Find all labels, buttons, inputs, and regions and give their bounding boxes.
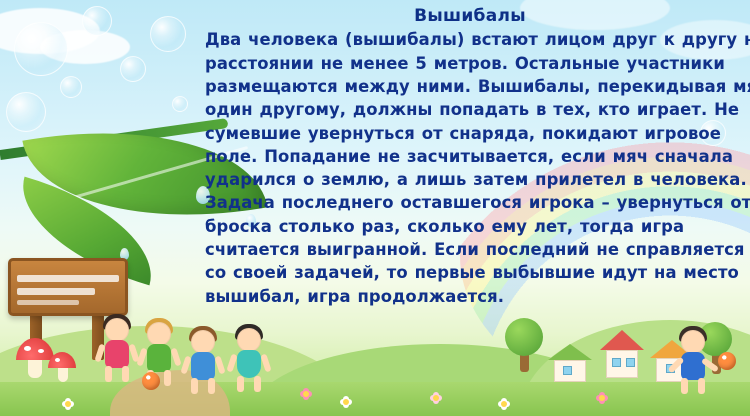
orange-ball-icon (718, 352, 736, 370)
house-window (563, 366, 572, 375)
head-shape (237, 328, 261, 352)
flower-core (501, 401, 507, 407)
torso-shape (147, 344, 171, 372)
flower-icon (498, 398, 510, 410)
wooden-sign-icon (8, 258, 128, 316)
mushroom-spot (55, 358, 60, 362)
text-line: Два человека (вышибалы) встают лицом дру… (205, 28, 735, 51)
soap-bubble-icon (6, 92, 46, 132)
sign-text-line (17, 288, 95, 295)
house-roof (548, 344, 592, 360)
leg-shape (698, 378, 705, 394)
mushroom-spot (38, 349, 44, 353)
leg-shape (191, 378, 198, 394)
torso-shape (105, 340, 129, 368)
character-girl-dark-hair (100, 318, 134, 382)
text-line: вышибал, игра продолжается. (205, 285, 735, 308)
leg-shape (208, 378, 215, 394)
flower-core (65, 401, 71, 407)
house-roof (600, 330, 644, 350)
soap-bubble-icon (82, 6, 112, 36)
text-line: размещаются между ними. Вышибалы, переки… (205, 75, 735, 98)
text-line: считается выигранной. Если последний не … (205, 238, 735, 261)
text-line: один другому, должны попадать в тех, кто… (205, 98, 735, 121)
flower-icon (596, 392, 608, 404)
head-shape (147, 322, 171, 346)
soap-bubble-icon (60, 76, 82, 98)
head-shape (681, 330, 705, 354)
mushroom-stem (58, 366, 68, 382)
mushroom-spot (24, 346, 31, 351)
leg-shape (164, 370, 171, 386)
text-line: со своей задачей, то первые выбывшие иду… (205, 261, 735, 284)
character-boy-blue-shirt (186, 330, 220, 388)
text-line: расстоянии не менее 5 метров. Остальные … (205, 52, 735, 75)
house-window (626, 358, 635, 367)
orange-ball-icon (142, 372, 160, 390)
flower-core (599, 395, 605, 401)
tree-icon (505, 318, 543, 356)
text-line: броска столько раз, сколько ему лет, тог… (205, 215, 735, 238)
text-line: сумевшие увернуться от снаряда, покидают… (205, 122, 735, 145)
sign-text-line (17, 300, 79, 305)
soap-bubble-icon (14, 22, 68, 76)
flower-core (343, 399, 349, 405)
sign-text-line (17, 275, 119, 282)
head-shape (105, 318, 129, 342)
flower-icon (430, 392, 442, 404)
flower-core (433, 395, 439, 401)
slide-canvas: Вышибалы Два человека (вышибалы) встают … (0, 0, 750, 416)
text-line: Задача последнего оставшегося игрока – у… (205, 191, 735, 214)
game-rules-text: Два человека (вышибалы) встают лицом дру… (205, 28, 735, 308)
torso-shape (237, 350, 261, 378)
flower-icon (340, 396, 352, 408)
leg-shape (237, 376, 244, 392)
flower-icon (300, 388, 312, 400)
text-line: ударился о землю, а лишь затем прилетел … (205, 168, 735, 191)
flower-core (303, 391, 309, 397)
leg-shape (105, 366, 112, 382)
torso-shape (191, 352, 215, 380)
leg-shape (681, 378, 688, 394)
leg-shape (254, 376, 261, 392)
soap-bubble-icon (120, 56, 146, 82)
soap-bubble-icon (150, 16, 186, 52)
flower-icon (62, 398, 74, 410)
character-girl-teal-dress (232, 328, 266, 388)
text-line: поле. Попадание не засчитывается, если м… (205, 145, 735, 168)
house-window (612, 358, 621, 367)
torso-shape (681, 352, 705, 380)
leg-shape (122, 366, 129, 382)
character-boy-throwing-ball (676, 330, 710, 390)
text-panel: Вышибалы Два человека (вышибалы) встают … (205, 6, 735, 308)
page-title: Вышибалы (205, 6, 735, 26)
soap-bubble-icon (172, 96, 188, 112)
head-shape (191, 330, 215, 354)
